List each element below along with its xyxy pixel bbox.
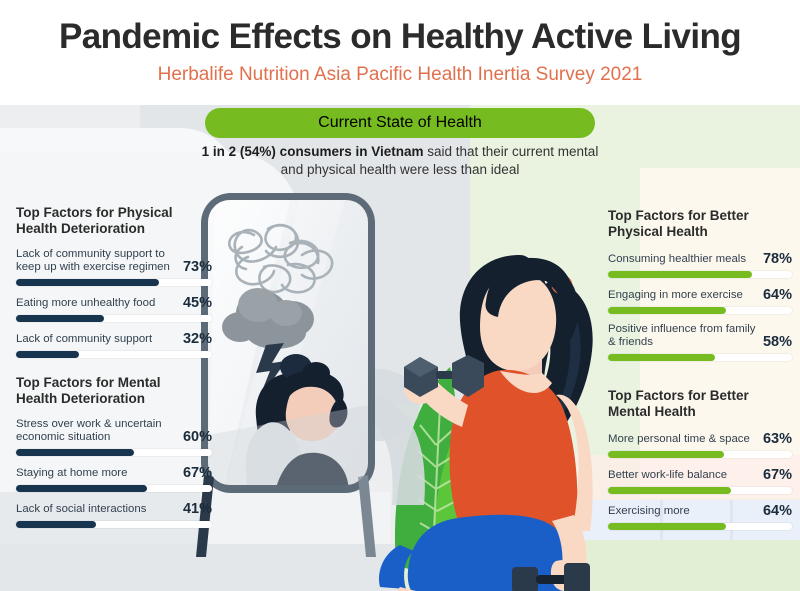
background-left-floor: [0, 544, 400, 591]
stat-bar-fill: [608, 271, 752, 278]
stat-bar-fill: [16, 315, 104, 322]
stat-bar-fill: [16, 485, 147, 492]
stat-bar-fill: [16, 279, 159, 286]
stat-bar-track: [608, 354, 792, 361]
section-title-line-2: Health Deterioration: [16, 391, 212, 407]
stat-bar-fill: [16, 351, 79, 358]
section-better-physical: Top Factors for Better Physical Health C…: [608, 208, 792, 370]
stat-bar-track: [608, 307, 792, 314]
section-title-line-1: Top Factors for Mental: [16, 375, 212, 391]
infographic-root: Pandemic Effects on Healthy Active Livin…: [0, 0, 800, 591]
headline-stat: 1 in 2 (54%) consumers in Vietnam said t…: [190, 143, 610, 179]
stat-label: Stress over work & uncertain economic si…: [16, 418, 177, 445]
stat-value: 41%: [177, 501, 212, 517]
header: Pandemic Effects on Healthy Active Livin…: [0, 0, 800, 105]
stat-bar-track: [16, 351, 212, 358]
stat-bar-track: [608, 523, 792, 530]
stat-row: Stress over work & uncertain economic si…: [16, 418, 212, 456]
section-title-line-2: Mental Health: [608, 404, 792, 420]
stat-value: 32%: [177, 331, 212, 347]
section-title-line-2: Health Deterioration: [16, 221, 212, 237]
stat-label: Better work-life balance: [608, 469, 727, 483]
stat-bar-track: [608, 271, 792, 278]
section-mental-deterioration: Top Factors for Mental Health Deteriorat…: [16, 375, 212, 537]
headline-stat-bold: 1 in 2 (54%) consumers in Vietnam: [202, 144, 424, 159]
stat-bar-fill: [608, 354, 715, 361]
stat-label: More personal time & space: [608, 433, 750, 447]
stat-bar-track: [16, 315, 212, 322]
section-title: Top Factors for Better Mental Health: [608, 388, 792, 420]
stat-label: Staying at home more: [16, 467, 127, 481]
stat-bar-fill: [608, 451, 724, 458]
section-banner-label: Current State of Health: [318, 114, 482, 132]
stat-bar-track: [608, 451, 792, 458]
section-title-line-1: Top Factors for Better: [608, 208, 792, 224]
stat-value: 78%: [757, 251, 792, 267]
stat-bar-track: [16, 449, 212, 456]
stat-label: Lack of community support to keep up wit…: [16, 248, 177, 275]
section-physical-deterioration: Top Factors for Physical Health Deterior…: [16, 205, 212, 367]
background-left-strip-b: [200, 492, 390, 544]
stat-label: Lack of social interactions: [16, 503, 146, 517]
section-title-line-1: Top Factors for Better: [608, 388, 792, 404]
section-title: Top Factors for Mental Health Deteriorat…: [16, 375, 212, 407]
stat-label: Positive influence from family & friends: [608, 323, 757, 350]
section-title-line-1: Top Factors for Physical: [16, 205, 212, 221]
page-subtitle: Herbalife Nutrition Asia Pacific Health …: [0, 64, 800, 86]
stat-label: Consuming healthier meals: [608, 253, 746, 267]
stat-value: 63%: [757, 431, 792, 447]
section-title: Top Factors for Better Physical Health: [608, 208, 792, 240]
section-banner: Current State of Health: [205, 108, 595, 138]
stat-value: 64%: [757, 287, 792, 303]
stat-value: 45%: [177, 295, 212, 311]
stat-bar-fill: [608, 523, 726, 530]
stat-row: Exercising more 64%: [608, 503, 792, 530]
stat-row: Engaging in more exercise 64%: [608, 287, 792, 314]
stat-bar-track: [608, 487, 792, 494]
stat-bar-track: [16, 279, 212, 286]
stat-row: Staying at home more 67%: [16, 465, 212, 492]
stat-row: Lack of community support 32%: [16, 331, 212, 358]
stat-value: 60%: [177, 429, 212, 445]
stat-row: More personal time & space 63%: [608, 431, 792, 458]
page-title: Pandemic Effects on Healthy Active Livin…: [0, 17, 800, 57]
stat-bar-track: [16, 485, 212, 492]
stat-row: Lack of social interactions 41%: [16, 501, 212, 528]
stat-bar-fill: [16, 521, 96, 528]
stat-row: Eating more unhealthy food 45%: [16, 295, 212, 322]
stat-label: Exercising more: [608, 505, 690, 519]
stat-bar-track: [16, 521, 212, 528]
section-better-mental: Top Factors for Better Mental Health Mor…: [608, 388, 792, 539]
stat-row: Better work-life balance 67%: [608, 467, 792, 494]
stat-value: 64%: [757, 503, 792, 519]
stat-value: 58%: [757, 334, 792, 350]
stat-value: 67%: [757, 467, 792, 483]
stat-row: Lack of community support to keep up wit…: [16, 248, 212, 286]
stat-label: Lack of community support: [16, 333, 152, 347]
section-title: Top Factors for Physical Health Deterior…: [16, 205, 212, 237]
stat-value: 67%: [177, 465, 212, 481]
background-right-floor: [400, 540, 800, 591]
stat-label: Engaging in more exercise: [608, 289, 743, 303]
stat-bar-fill: [608, 307, 726, 314]
stat-label: Eating more unhealthy food: [16, 297, 155, 311]
section-title-line-2: Physical Health: [608, 224, 792, 240]
stat-value: 73%: [177, 259, 212, 275]
stat-row: Positive influence from family & friends…: [608, 323, 792, 361]
stat-row: Consuming healthier meals 78%: [608, 251, 792, 278]
stat-bar-fill: [608, 487, 731, 494]
stat-bar-fill: [16, 449, 134, 456]
